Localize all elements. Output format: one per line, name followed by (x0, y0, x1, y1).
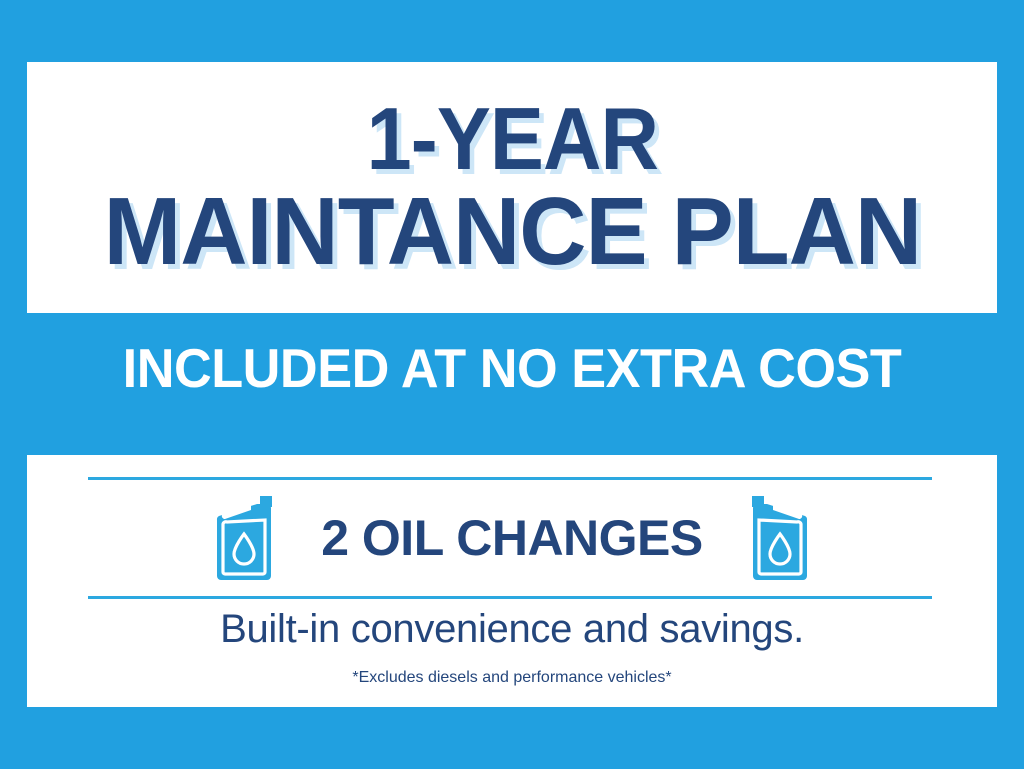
promo-poster: 1-YEAR MAINTANCE PLAN INCLUDED AT NO EXT… (0, 0, 1024, 769)
offer-label: 2 OIL CHANGES (321, 509, 703, 567)
detail-card: 2 OIL CHANGES Built-in convenience and s… (27, 455, 997, 707)
offer-row: 2 OIL CHANGES (27, 481, 997, 594)
headline-card: 1-YEAR MAINTANCE PLAN (27, 62, 997, 313)
divider-top (88, 477, 932, 480)
headline-line-2: MAINTANCE PLAN (103, 186, 921, 278)
oil-jug-icon-right (747, 494, 813, 582)
oil-jug-icon-left (211, 494, 277, 582)
tagline: Built-in convenience and savings. (27, 607, 997, 652)
divider-bottom (88, 596, 932, 599)
disclaimer: *Excludes diesels and performance vehicl… (27, 669, 997, 687)
subheading: INCLUDED AT NO EXTRA COST (26, 336, 999, 400)
headline-line-1: 1-YEAR (366, 97, 657, 181)
